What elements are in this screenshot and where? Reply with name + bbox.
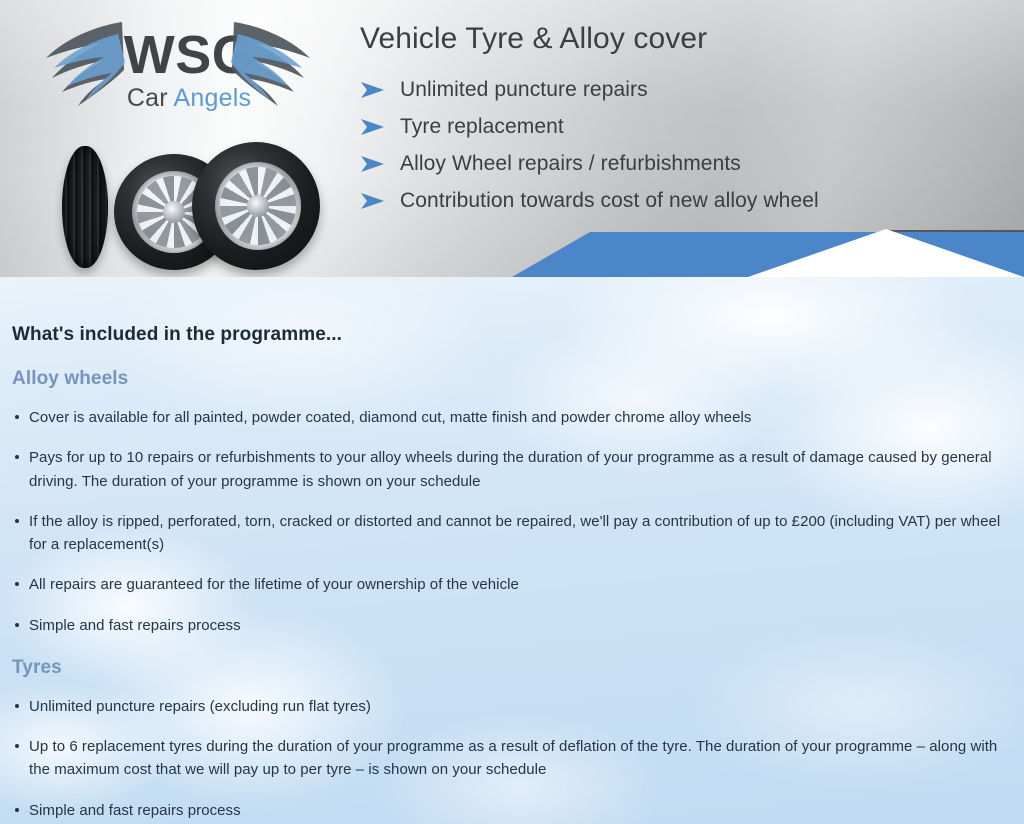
tyre-tread-view	[62, 146, 108, 268]
feature-item: Tyre replacement	[360, 109, 1010, 146]
tyres-bullet-list: Unlimited puncture repairs (excluding ru…	[12, 695, 1012, 822]
arrow-bullet-icon	[360, 118, 388, 136]
logo-subtitle-car: Car	[127, 84, 168, 112]
page-title: Vehicle Tyre & Alloy cover	[360, 20, 1010, 58]
feature-label: Tyre replacement	[400, 115, 564, 139]
list-item: If the alloy is ripped, perforated, torn…	[12, 510, 1012, 557]
angel-wing-icon	[26, 18, 126, 114]
list-item: Up to 6 replacement tyres during the dur…	[12, 735, 1012, 782]
feature-item: Alloy Wheel repairs / refurbishments	[360, 146, 1010, 183]
arrow-bullet-icon	[360, 81, 388, 99]
arrow-bullet-icon	[360, 155, 388, 173]
content-area: What's included in the programme... Allo…	[0, 277, 1024, 824]
blue-parallelogram	[512, 232, 1024, 277]
marketing-brochure-page: WSG Car Angels Vehicle Tyre &	[0, 0, 1024, 824]
list-item: Cover is available for all painted, powd…	[12, 406, 1012, 429]
feature-label: Alloy Wheel repairs / refurbishments	[400, 152, 741, 176]
angel-wing-icon	[230, 18, 330, 114]
section-title: What's included in the programme...	[12, 324, 1012, 346]
feature-label: Unlimited puncture repairs	[400, 78, 648, 102]
list-item: Unlimited puncture repairs (excluding ru…	[12, 695, 1012, 718]
included-section: What's included in the programme... Allo…	[0, 277, 1024, 824]
feature-label: Contribution towards cost of new alloy w…	[400, 189, 819, 213]
feature-list: Unlimited puncture repairs Tyre replacem…	[360, 72, 1010, 220]
list-item: Pays for up to 10 repairs or refurbishme…	[12, 446, 1012, 493]
tyres-and-alloy-wheels-photo	[52, 132, 314, 277]
wheel-hub	[163, 201, 185, 223]
list-item: Simple and fast repairs process	[12, 614, 1012, 637]
alloy-wheels-bullet-list: Cover is available for all painted, powd…	[12, 406, 1012, 637]
feature-item: Unlimited puncture repairs	[360, 72, 1010, 109]
dark-gray-wedge	[890, 230, 1024, 277]
list-item: Simple and fast repairs process	[12, 799, 1012, 822]
feature-item: Contribution towards cost of new alloy w…	[360, 183, 1010, 220]
alloy-rim-front	[215, 162, 301, 250]
group-heading-tyres: Tyres	[12, 657, 1012, 679]
white-wedge	[748, 229, 1024, 277]
header-banner: WSG Car Angels Vehicle Tyre &	[0, 0, 1024, 277]
wheel-hub	[247, 195, 269, 217]
arrow-bullet-icon	[360, 192, 388, 210]
group-heading-alloy-wheels: Alloy wheels	[12, 368, 1012, 390]
header-copy: Vehicle Tyre & Alloy cover Unlimited pun…	[360, 20, 1010, 220]
brand-logo[interactable]: WSG Car Angels	[18, 12, 336, 132]
list-item: All repairs are guaranteed for the lifet…	[12, 573, 1012, 596]
